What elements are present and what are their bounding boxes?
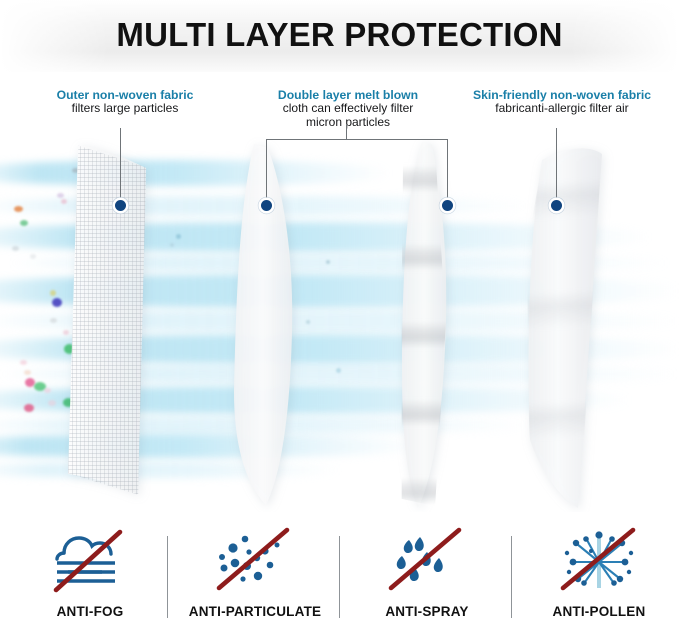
feature-divider (339, 536, 340, 618)
callout-title: Double layer melt blown (248, 88, 448, 102)
feature-divider (167, 536, 168, 618)
feature-label: ANTI-POLLEN (519, 604, 679, 619)
callout-melt-blown: Double layer melt blown cloth can effect… (248, 88, 448, 129)
leader-line-outer (120, 128, 121, 204)
slash-icon (219, 530, 287, 588)
filter-layer-melt-blown-first (232, 142, 314, 507)
leader-line-melt-blown-bracket (266, 139, 447, 140)
feature-anti-spray[interactable]: ANTI-SPRAY (347, 512, 507, 627)
feature-anti-fog[interactable]: ANTI-FOG (10, 512, 170, 627)
callout-subtitle-line-2: micron particles (248, 116, 448, 130)
feature-divider (511, 536, 512, 618)
particles-icon (175, 522, 335, 594)
feature-anti-particulate[interactable]: ANTI-PARTICULATE (175, 512, 335, 627)
callout-subtitle: fabricanti-allergic filter air (448, 102, 676, 116)
callout-dot-melt-blown-second (442, 200, 453, 211)
callout-dot-outer (115, 200, 126, 211)
callout-title: Skin-friendly non-woven fabric (448, 88, 676, 102)
callout-subtitle: filters large particles (10, 102, 240, 116)
feature-label: ANTI-FOG (10, 604, 170, 619)
leader-line-melt-blown-stem (346, 124, 347, 139)
leader-line-melt-blown-right (447, 139, 448, 204)
filter-layer-skin-friendly (516, 140, 626, 512)
filter-layer-outer-non-woven (60, 142, 175, 502)
filter-layer-melt-blown-second (388, 140, 464, 510)
callout-outer-layer: Outer non-woven fabric filters large par… (10, 88, 240, 116)
callout-inner-layer: Skin-friendly non-woven fabric fabricant… (448, 88, 676, 116)
feature-label: ANTI-SPRAY (347, 604, 507, 619)
leader-line-inner (556, 128, 557, 204)
callout-dot-inner (551, 200, 562, 211)
page-title: MULTI LAYER PROTECTION (0, 16, 679, 54)
callout-dot-melt-blown-first (261, 200, 272, 211)
droplets-icon (347, 522, 507, 594)
feature-label: ANTI-PARTICULATE (175, 604, 335, 619)
leader-line-melt-blown-left (266, 139, 267, 204)
fog-cloud-icon (10, 522, 170, 594)
feature-anti-pollen[interactable]: ANTI-POLLEN (519, 512, 679, 627)
pollen-burst-icon (519, 522, 679, 594)
callout-subtitle-line-1: cloth can effectively filter (248, 102, 448, 116)
layer-sheet-shape (232, 142, 314, 507)
feature-strip: ANTI-FOG (0, 512, 679, 627)
callout-title: Outer non-woven fabric (10, 88, 240, 102)
infographic-canvas: MULTI LAYER PROTECTION (0, 0, 679, 627)
